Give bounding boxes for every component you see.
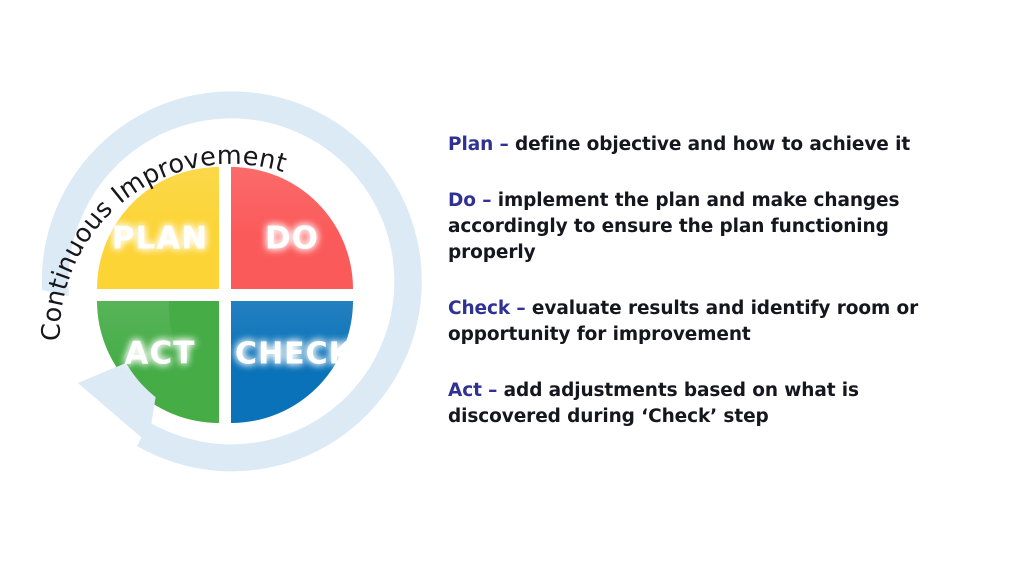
quadrant-label-check: CHECK bbox=[235, 337, 354, 372]
description-dash-plan: – bbox=[493, 134, 515, 155]
slide-canvas: PLAN DO ACT CHECK Continuous Improvement… bbox=[0, 0, 1024, 576]
description-text-do: implement the plan and make changes acco… bbox=[448, 190, 899, 263]
pdca-description-list: Plan – define objective and how to achie… bbox=[448, 132, 968, 430]
description-dash-do: – bbox=[476, 190, 498, 211]
description-dash-act: – bbox=[482, 380, 504, 401]
quadrant-label-plan: PLAN bbox=[112, 221, 208, 257]
description-term-act: Act bbox=[448, 380, 482, 401]
description-dash-check: – bbox=[510, 298, 532, 319]
description-text-act: add adjustments based on what is discove… bbox=[448, 380, 859, 427]
description-term-do: Do bbox=[448, 190, 476, 211]
quadrant-label-act: ACT bbox=[125, 336, 196, 372]
description-item-check: Check – evaluate results and identify ro… bbox=[448, 296, 968, 348]
description-item-act: Act – add adjustments based on what is d… bbox=[448, 378, 968, 430]
description-item-plan: Plan – define objective and how to achie… bbox=[448, 132, 968, 158]
description-item-do: Do – implement the plan and make changes… bbox=[448, 188, 968, 266]
description-text-plan: define objective and how to achieve it bbox=[515, 134, 910, 155]
quadrant-label-do: DO bbox=[265, 221, 319, 257]
description-term-plan: Plan bbox=[448, 134, 493, 155]
pdca-cycle-diagram: PLAN DO ACT CHECK Continuous Improvement bbox=[30, 110, 420, 490]
description-term-check: Check bbox=[448, 298, 510, 319]
